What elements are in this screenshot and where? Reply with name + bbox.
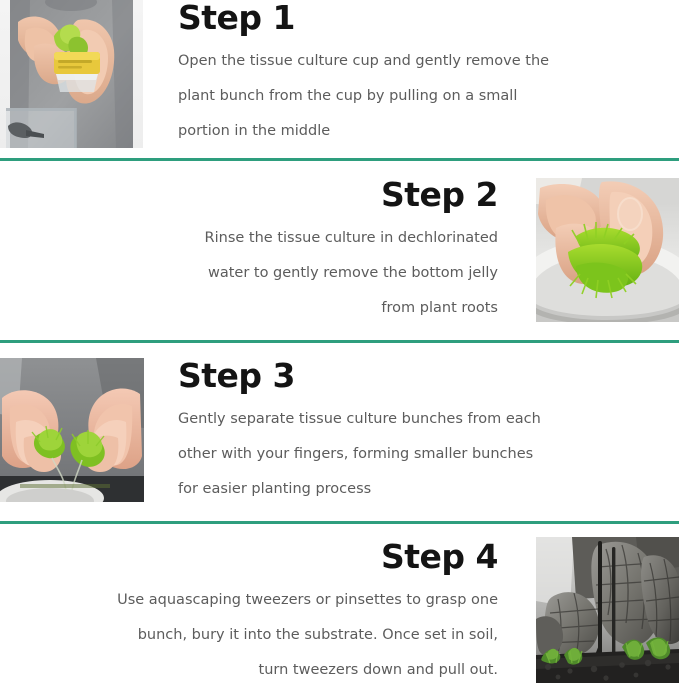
step-1-title: Step 1 bbox=[178, 0, 618, 40]
step-3-body: Gently separate tissue culture bunches f… bbox=[178, 398, 618, 507]
step-4-photo bbox=[536, 537, 679, 683]
step-4-title: Step 4 bbox=[40, 535, 498, 579]
hands-rinsing-plant-in-bowl-illustration bbox=[536, 178, 679, 322]
section-divider-3 bbox=[0, 521, 679, 524]
step-card-2: Step 2 Rinse the tissue culture in dechl… bbox=[0, 163, 679, 340]
step-2-title: Step 2 bbox=[40, 173, 498, 217]
step-card-4: Step 4 Use aquascaping tweezers or pinse… bbox=[0, 525, 679, 683]
section-divider-2 bbox=[0, 340, 679, 343]
section-divider-1 bbox=[0, 158, 679, 161]
hands-separating-plant-bunches-illustration bbox=[0, 358, 144, 502]
step-1-text-column: Step 1 Open the tissue culture cup and g… bbox=[178, 0, 618, 149]
step-2-text-column: Step 2 Rinse the tissue culture in dechl… bbox=[40, 173, 498, 326]
step-card-3: Step 3 Gently separate tissue culture bu… bbox=[0, 344, 679, 521]
step-3-text-column: Step 3 Gently separate tissue culture bu… bbox=[178, 354, 618, 507]
step-card-1: Step 1 Open the tissue culture cup and g… bbox=[0, 0, 679, 158]
hands-opening-tissue-culture-cup-illustration bbox=[0, 0, 143, 148]
step-4-body: Use aquascaping tweezers or pinsettes to… bbox=[40, 579, 498, 688]
aquascape-rocks-with-planted-greenery-illustration bbox=[536, 537, 679, 683]
step-1-photo bbox=[0, 0, 143, 148]
step-2-photo bbox=[536, 178, 679, 322]
steps-infographic: Step 1 Open the tissue culture cup and g… bbox=[0, 0, 679, 683]
step-4-text-column: Step 4 Use aquascaping tweezers or pinse… bbox=[40, 535, 498, 688]
step-3-title: Step 3 bbox=[178, 354, 618, 398]
step-2-body: Rinse the tissue culture in dechlorinate… bbox=[40, 217, 498, 326]
step-1-body: Open the tissue culture cup and gently r… bbox=[178, 40, 618, 149]
step-3-photo bbox=[0, 358, 144, 502]
